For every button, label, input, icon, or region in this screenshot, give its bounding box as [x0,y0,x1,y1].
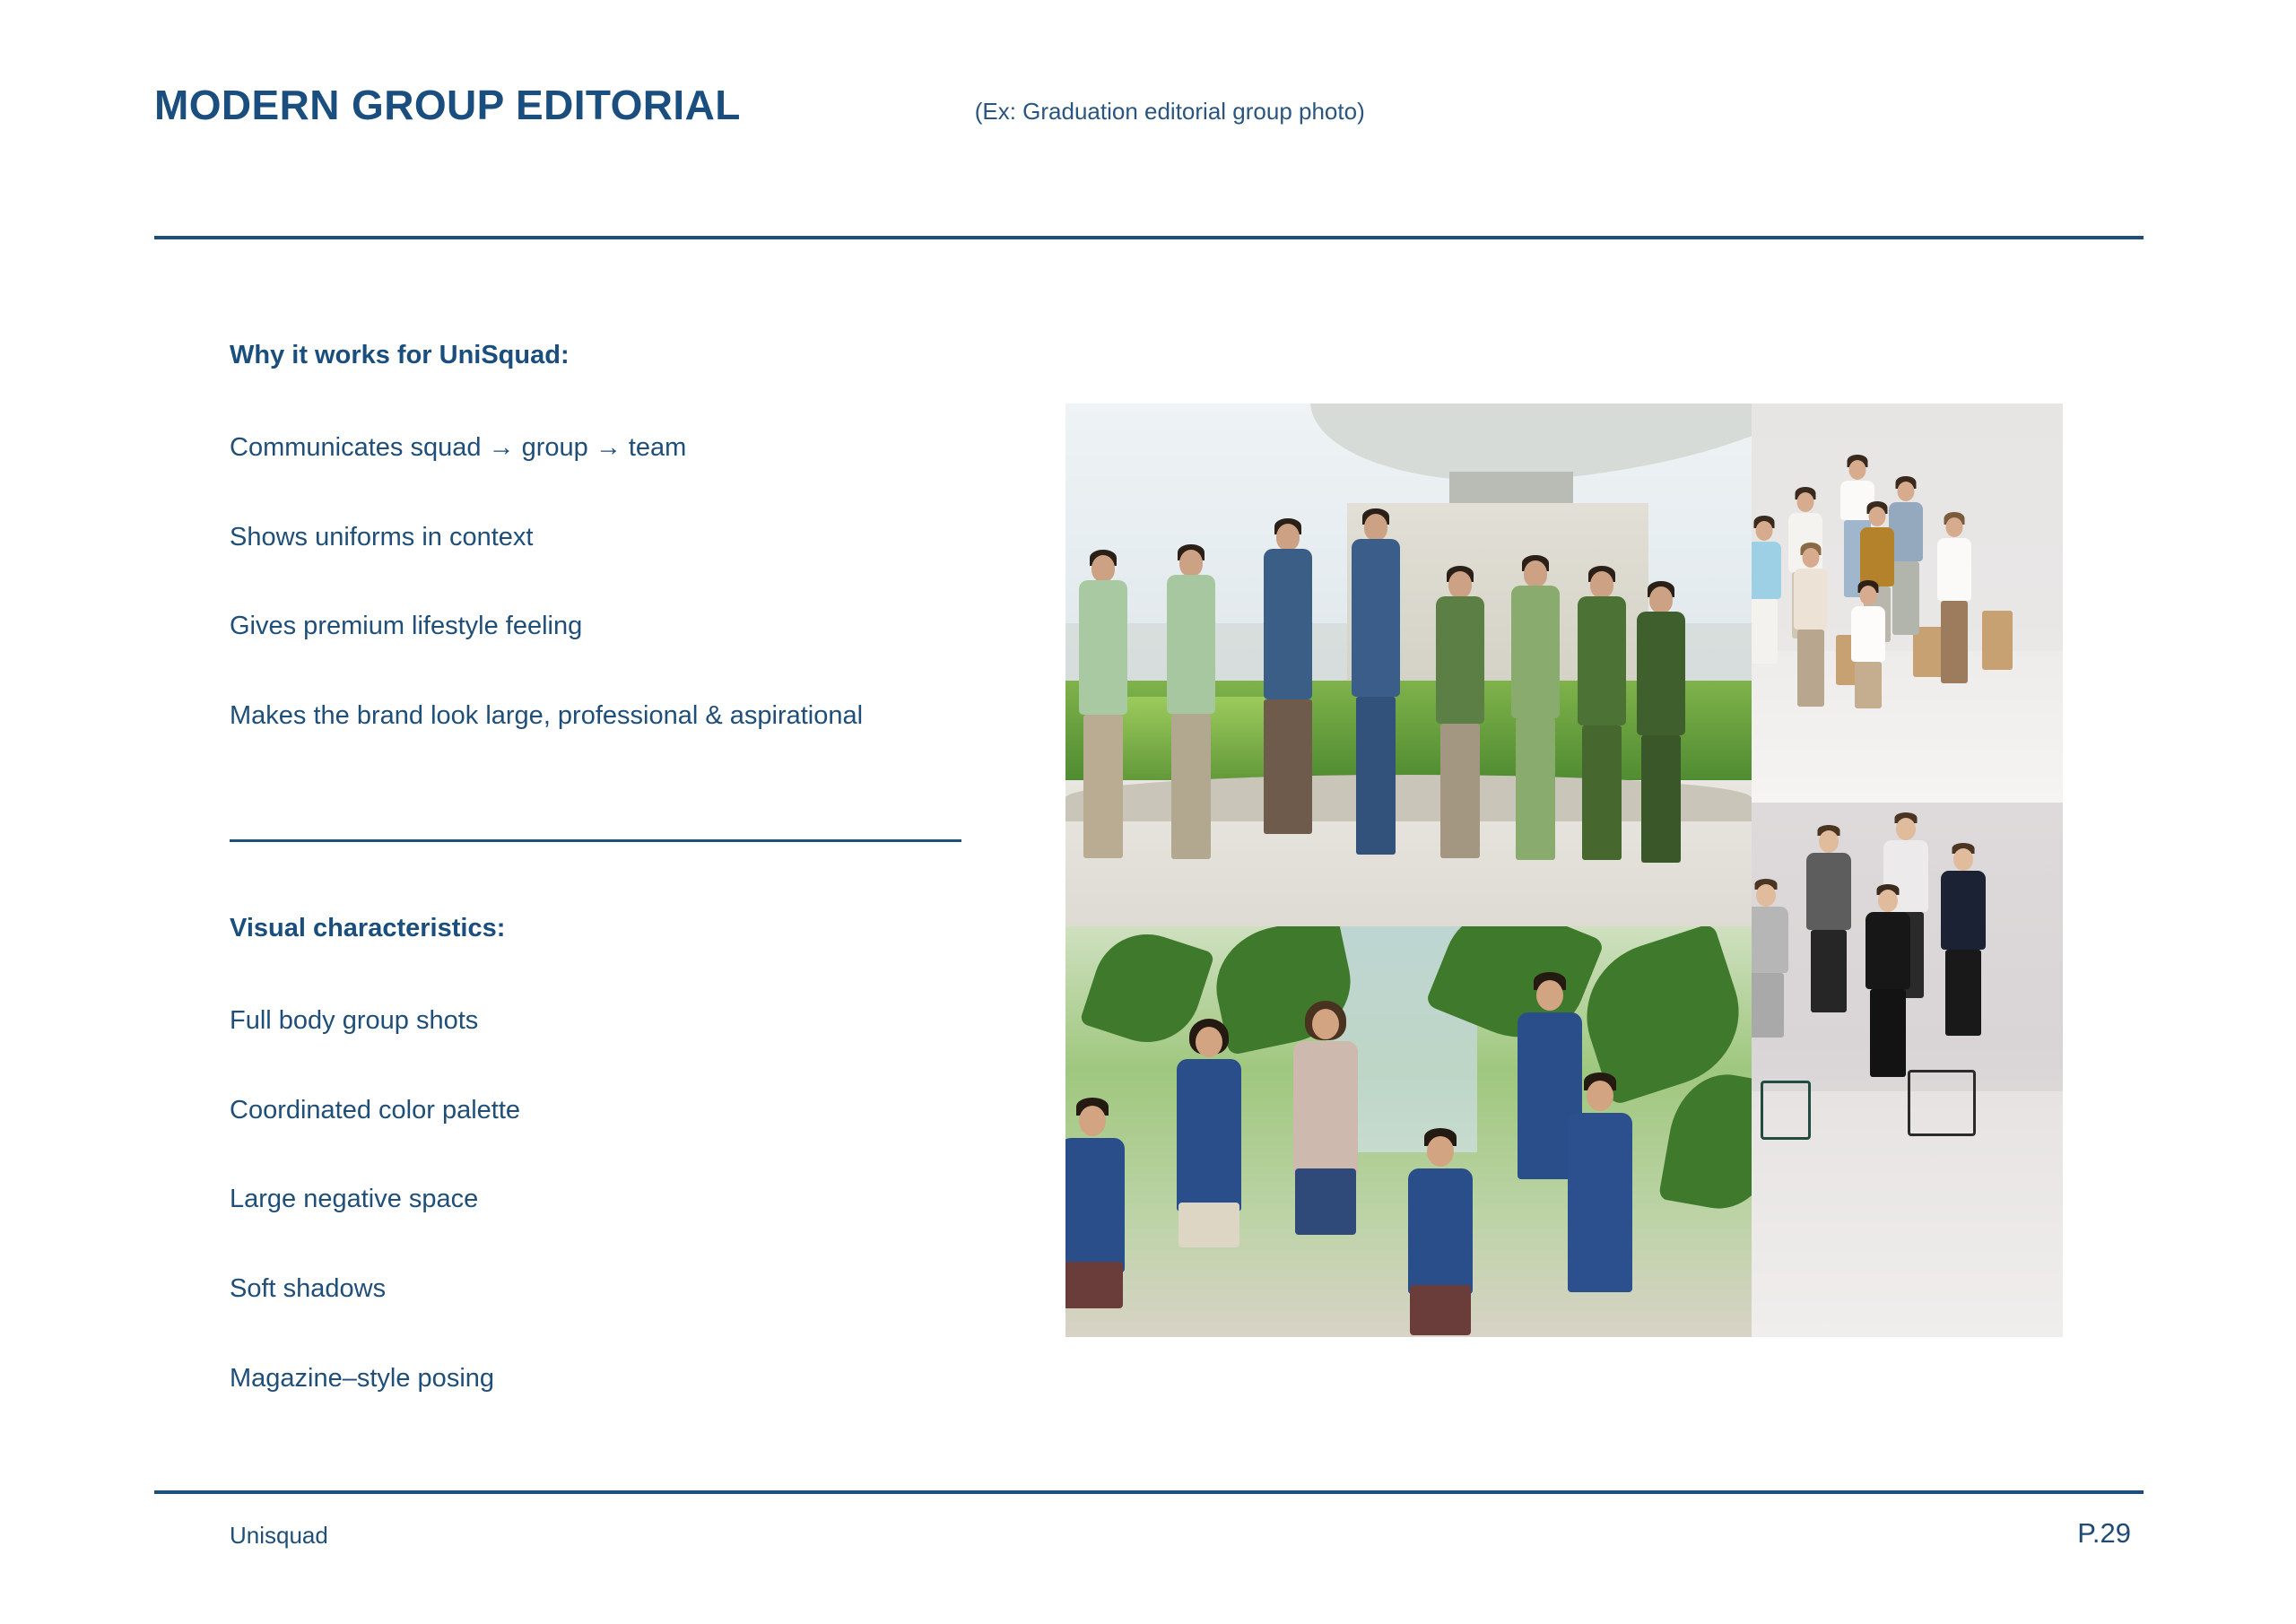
page-subtitle: (Ex: Graduation editorial group photo) [975,98,1365,126]
slide-header: MODERN GROUP EDITORIAL (Ex: Graduation e… [154,81,2144,129]
left-content-column-secondary: Visual characteristics: Full body group … [230,912,965,1395]
section-divider [230,839,961,842]
photo-grid [1065,404,2063,1337]
footer-page-number: P.29 [2077,1517,2131,1550]
list-item: Magazine–style posing [230,1361,965,1396]
photo-blue-uniform-team [1065,926,1752,1337]
left-content-column-primary: Why it works for UniSquad: Communicates … [230,339,965,734]
list-item: Communicates squad → group → team [230,430,965,465]
section-heading-why-it-works: Why it works for UniSquad: [230,339,965,371]
section-heading-visual-characteristics: Visual characteristics: [230,912,965,944]
list-item: Makes the brand look large, professional… [230,699,965,734]
page-title: MODERN GROUP EDITORIAL [154,81,741,129]
list-item: Soft shadows [230,1272,965,1307]
photo-rooftop-corporate-group [1065,404,1752,926]
footer-divider [154,1490,2144,1494]
list-item: Coordinated color palette [230,1093,965,1128]
list-item: Large negative space [230,1182,965,1217]
list-item: Full body group shots [230,1003,965,1038]
photo-studio-casual-group [1752,404,2063,803]
list-item: Shows uniforms in context [230,520,965,555]
photo-formal-suits-group [1752,803,2063,1337]
footer-brand: Unisquad [230,1522,328,1550]
header-divider [154,236,2144,239]
list-item: Gives premium lifestyle feeling [230,609,965,644]
